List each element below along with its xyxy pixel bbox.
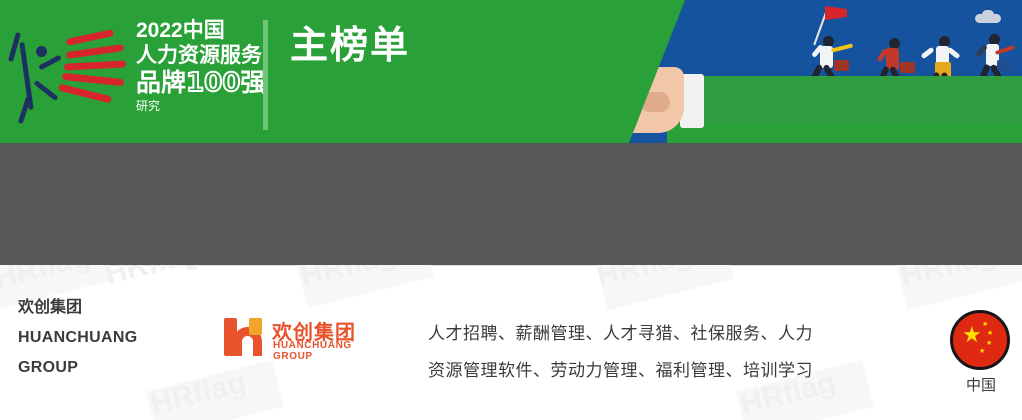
cell-business-description: 人才招聘、薪酬管理、人才寻猎、社保服务、人力 资源管理软件、劳动力管理、福利管理… — [428, 315, 928, 389]
award-logo-text: 2022中国 人力资源服务 品牌100强 研究 — [136, 18, 266, 114]
logo-text-en: HUANCHUANG GROUP — [273, 340, 384, 362]
flag-star-small: ★ — [987, 330, 993, 337]
green-sleeve — [702, 76, 1022, 124]
award-logo: 2022中国 人力资源服务 品牌100强 研究 — [14, 14, 254, 130]
award-line-2: 人力资源服务 — [136, 43, 266, 68]
flag-star-large: ★ — [962, 324, 982, 346]
cell-company-logo: 欢创集团 HUANCHUANG GROUP — [224, 316, 384, 358]
watermark-text: HRflag — [101, 265, 203, 292]
business-line-2: 资源管理软件、劳动力管理、福利管理、培训学习 — [428, 352, 928, 389]
header-divider — [263, 20, 268, 130]
flag-star-small: ★ — [979, 348, 985, 355]
flag-star-small: ★ — [982, 321, 988, 328]
cloud-icon — [975, 14, 1001, 23]
china-flag-icon: ★ ★ ★ ★ ★ — [950, 310, 1010, 370]
award-brand-suffix: 强 — [240, 69, 265, 97]
award-line-3: 品牌100强 — [136, 69, 266, 97]
ranking-page: 2022中国 人力资源服务 品牌100强 研究 主榜单 公司 标识 人力资源主营… — [0, 0, 1022, 420]
table-header-row: 公司 标识 人力资源主营业务 国家 — [0, 143, 1022, 265]
award-line-1: 2022中国 — [136, 18, 266, 43]
business-line-1: 人才招聘、薪酬管理、人才寻猎、社保服务、人力 — [428, 315, 928, 352]
page-title: 主榜单 — [290, 22, 410, 70]
company-name-en-2: GROUP — [18, 353, 198, 383]
company-name-en-1: HUANCHUANG — [18, 323, 198, 353]
huanchuang-h-mark-icon — [224, 318, 262, 356]
company-name-cn: 欢创集团 — [18, 293, 198, 323]
hand-knuckle — [640, 92, 670, 112]
page-header: 2022中国 人力资源服务 品牌100强 研究 主榜单 — [0, 0, 1022, 143]
index-finger — [540, 64, 610, 84]
cell-company-name: 欢创集团 HUANCHUANG GROUP — [18, 293, 198, 383]
award-line-4: 研究 — [136, 98, 266, 114]
award-number: 100 — [186, 68, 240, 98]
country-label: 中国 — [950, 374, 1012, 395]
flag-star-small: ★ — [986, 340, 992, 347]
award-brand-prefix: 品牌 — [136, 69, 186, 97]
header-illustration-panel — [617, 0, 1022, 143]
red-flag-icon — [825, 6, 847, 20]
cell-country: ★ ★ ★ ★ ★ 中国 — [950, 310, 1012, 395]
